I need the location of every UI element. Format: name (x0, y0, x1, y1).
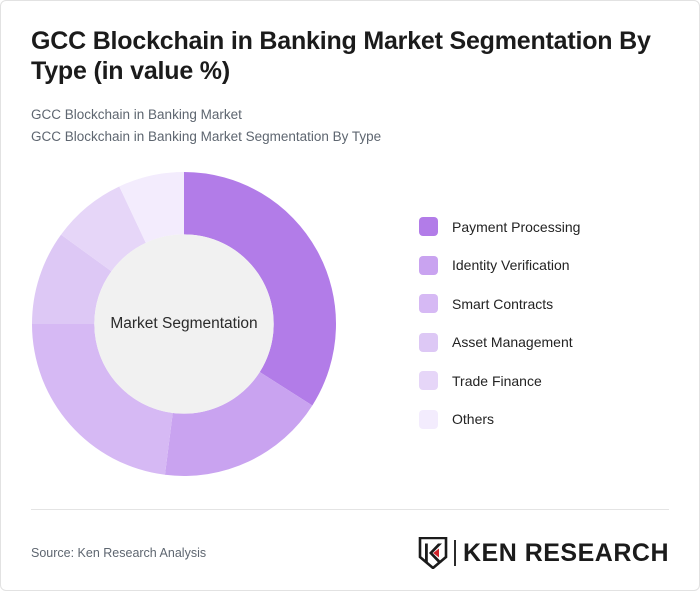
legend-item-label: Asset Management (452, 334, 573, 350)
chart-card: GCC Blockchain in Banking Market Segment… (0, 0, 700, 591)
legend-item-label: Trade Finance (452, 373, 542, 389)
subtitle-segmentation: GCC Blockchain in Banking Market Segment… (31, 126, 669, 148)
legend-item[interactable]: Identity Verification (419, 246, 669, 285)
donut-svg (32, 172, 336, 476)
legend-item-label: Identity Verification (452, 257, 570, 273)
legend-color-swatch (419, 333, 438, 352)
legend-item[interactable]: Payment Processing (419, 208, 669, 247)
source-note: Source: Ken Research Analysis (31, 546, 206, 560)
legend-color-swatch (419, 256, 438, 275)
plot-area: Market Segmentation Payment ProcessingId… (1, 160, 699, 490)
brand-name: KEN RESEARCH (463, 539, 669, 568)
legend-color-swatch (419, 371, 438, 390)
legend-item[interactable]: Smart Contracts (419, 285, 669, 324)
subtitle-market: GCC Blockchain in Banking Market (31, 104, 669, 126)
chart-header: GCC Blockchain in Banking Market Segment… (1, 1, 699, 148)
donut-hole (94, 234, 273, 413)
footer-divider (31, 509, 669, 510)
chart-legend: Payment ProcessingIdentity VerificationS… (419, 208, 669, 439)
page-title: GCC Blockchain in Banking Market Segment… (31, 27, 656, 86)
legend-item-label: Smart Contracts (452, 296, 553, 312)
donut-slice-group (32, 172, 336, 476)
legend-item[interactable]: Trade Finance (419, 362, 669, 401)
legend-item-label: Others (452, 411, 494, 427)
chart-footer: Source: Ken Research Analysis KEN RESEAR… (1, 523, 699, 583)
brand-logo: KEN RESEARCH (418, 537, 669, 569)
subtitle-block: GCC Blockchain in Banking Market GCC Blo… (31, 104, 669, 148)
legend-item-label: Payment Processing (452, 219, 580, 235)
legend-item[interactable]: Asset Management (419, 323, 669, 362)
legend-color-swatch (419, 294, 438, 313)
legend-item[interactable]: Others (419, 400, 669, 439)
brand-separator (454, 540, 456, 566)
donut-chart: Market Segmentation (32, 172, 336, 476)
legend-color-swatch (419, 217, 438, 236)
ken-research-shield-icon (418, 537, 448, 569)
legend-color-swatch (419, 410, 438, 429)
